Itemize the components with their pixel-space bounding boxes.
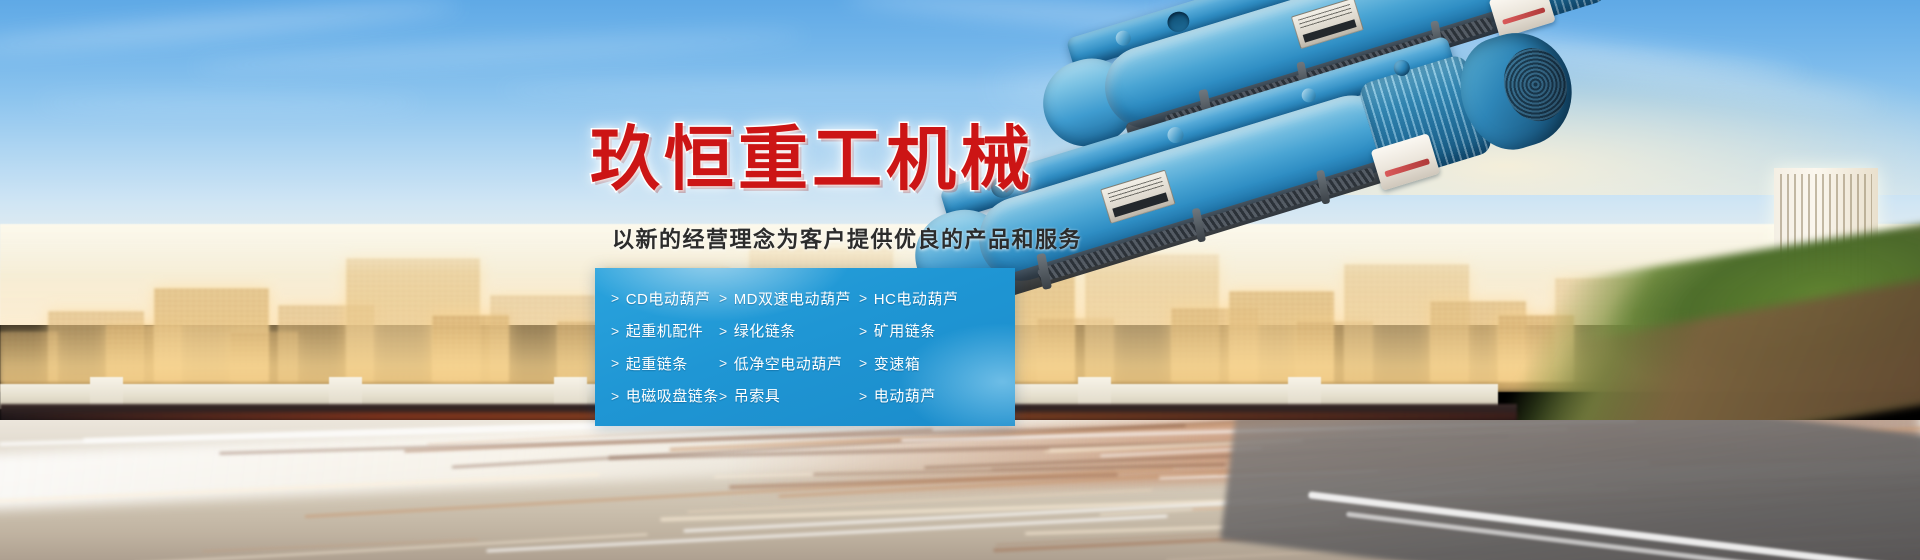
chevron-right-icon: >	[611, 355, 620, 371]
page-subtitle: 以新的经营理念为客户提供优良的产品和服务	[612, 222, 1082, 254]
link-crane-parts[interactable]: >起重机配件	[611, 315, 719, 348]
chevron-right-icon: >	[611, 290, 620, 306]
chevron-right-icon: >	[859, 323, 868, 339]
product-link-label: 电动葫芦	[874, 385, 936, 406]
product-link-label: 低净空电动葫芦	[734, 353, 843, 374]
product-link-label: MD双速电动葫芦	[734, 288, 851, 309]
link-md-dual-speed-hoist[interactable]: >MD双速电动葫芦	[719, 282, 859, 315]
product-link-label: 起重机配件	[626, 320, 704, 341]
link-cd-hoist[interactable]: >CD电动葫芦	[611, 282, 719, 315]
product-links-panel: >CD电动葫芦>MD双速电动葫芦>HC电动葫芦>起重机配件>绿化链条>矿用链条>…	[595, 268, 1015, 426]
chevron-right-icon: >	[719, 290, 728, 306]
banner-content: 玖恒重工机械 以新的经营理念为客户提供优良的产品和服务 >CD电动葫芦>MD双速…	[0, 0, 1920, 560]
product-link-label: HC电动葫芦	[874, 288, 959, 309]
chevron-right-icon: >	[611, 323, 620, 339]
link-magnetic-chuck-chain[interactable]: >电磁吸盘链条	[611, 380, 719, 413]
product-link-label: 吊索具	[734, 385, 781, 406]
link-gearbox[interactable]: >变速箱	[859, 347, 1015, 380]
product-link-label: 绿化链条	[734, 320, 796, 341]
promotional-banner: 玖恒重工机械 以新的经营理念为客户提供优良的产品和服务 >CD电动葫芦>MD双速…	[0, 0, 1920, 560]
chevron-right-icon: >	[719, 388, 728, 404]
product-link-label: 变速箱	[874, 353, 921, 374]
link-low-headroom-hoist[interactable]: >低净空电动葫芦	[719, 347, 859, 380]
chevron-right-icon: >	[719, 355, 728, 371]
chevron-right-icon: >	[611, 388, 620, 404]
chevron-right-icon: >	[859, 355, 868, 371]
product-link-label: 矿用链条	[874, 320, 936, 341]
link-lifting-chain[interactable]: >起重链条	[611, 347, 719, 380]
chevron-right-icon: >	[719, 323, 728, 339]
link-hc-hoist[interactable]: >HC电动葫芦	[859, 282, 1015, 315]
chevron-right-icon: >	[859, 290, 868, 306]
link-electric-hoist[interactable]: >电动葫芦	[859, 380, 1015, 413]
product-link-label: 起重链条	[626, 353, 688, 374]
page-title: 玖恒重工机械	[590, 124, 1034, 194]
link-greening-chain[interactable]: >绿化链条	[719, 315, 859, 348]
product-link-label: 电磁吸盘链条	[626, 385, 719, 406]
product-link-label: CD电动葫芦	[626, 288, 711, 309]
link-mining-chain[interactable]: >矿用链条	[859, 315, 1015, 348]
product-links-grid: >CD电动葫芦>MD双速电动葫芦>HC电动葫芦>起重机配件>绿化链条>矿用链条>…	[595, 268, 1015, 426]
link-slings-rigging[interactable]: >吊索具	[719, 380, 859, 413]
chevron-right-icon: >	[859, 388, 868, 404]
